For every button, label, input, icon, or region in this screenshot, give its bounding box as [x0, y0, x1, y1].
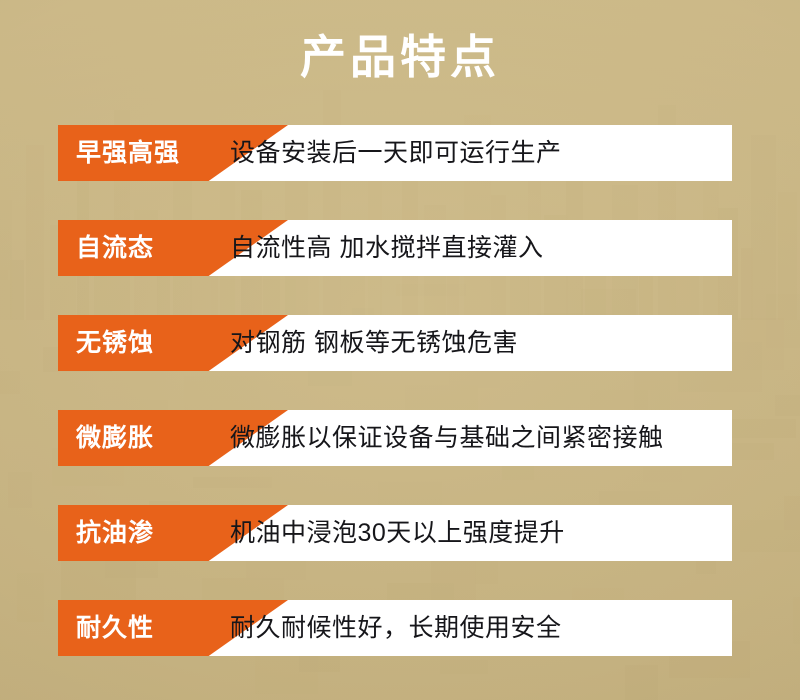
feature-tag-label: 自流态: [76, 220, 154, 276]
feature-tag-label: 微膨胀: [76, 410, 154, 466]
feature-description: 自流性高 加水搅拌直接灌入: [230, 220, 543, 276]
feature-list: 早强高强设备安装后一天即可运行生产自流态自流性高 加水搅拌直接灌入无锈蚀对钢筋 …: [58, 125, 732, 656]
product-features-poster: 产品特点 早强高强设备安装后一天即可运行生产自流态自流性高 加水搅拌直接灌入无锈…: [0, 0, 800, 700]
feature-description: 机油中浸泡30天以上强度提升: [230, 505, 565, 561]
feature-tag-label: 早强高强: [76, 125, 180, 181]
feature-tag-label: 耐久性: [76, 600, 154, 656]
feature-row: 抗油渗机油中浸泡30天以上强度提升: [58, 505, 732, 561]
feature-description: 设备安装后一天即可运行生产: [230, 125, 562, 181]
feature-tag-label: 无锈蚀: [76, 315, 154, 371]
page-title: 产品特点: [0, 34, 800, 80]
feature-row: 自流态自流性高 加水搅拌直接灌入: [58, 220, 732, 276]
feature-row: 微膨胀微膨胀以保证设备与基础之间紧密接触: [58, 410, 732, 466]
feature-row: 早强高强设备安装后一天即可运行生产: [58, 125, 732, 181]
feature-description: 耐久耐候性好，长期使用安全: [230, 600, 562, 656]
feature-row: 耐久性耐久耐候性好，长期使用安全: [58, 600, 732, 656]
feature-description: 微膨胀以保证设备与基础之间紧密接触: [230, 410, 664, 466]
feature-description: 对钢筋 钢板等无锈蚀危害: [230, 315, 518, 371]
feature-row: 无锈蚀对钢筋 钢板等无锈蚀危害: [58, 315, 732, 371]
feature-tag-label: 抗油渗: [76, 505, 154, 561]
